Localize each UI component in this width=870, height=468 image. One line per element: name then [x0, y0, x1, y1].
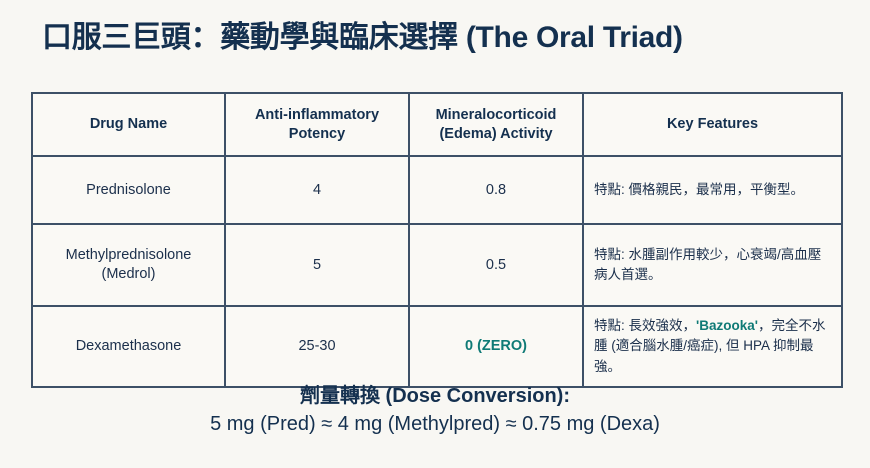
table-header: Drug Name Anti-inflammatory Potency Mine…: [32, 93, 842, 156]
oral-triad-table: Drug Name Anti-inflammatory Potency Mine…: [31, 92, 843, 388]
dose-conversion-title: 劑量轉換 (Dose Conversion):: [0, 383, 870, 411]
column-header-key-features: Key Features: [583, 93, 842, 156]
column-header-drug-name: Drug Name: [32, 93, 225, 156]
cell-key-features: 特點: 長效強效，'Bazooka'，完全不水腫 (適合腦水腫/癌症), 但 H…: [583, 306, 842, 387]
drug-name-line-2: (Medrol): [102, 266, 156, 282]
cell-potency: 25-30: [225, 306, 409, 387]
key-features-text-prefix: 特點: 長效強效，: [594, 318, 696, 333]
page-title: 口服三巨頭：藥動學與臨床選擇 (The Oral Triad): [42, 20, 842, 56]
cell-mineralocorticoid: 0.8: [409, 156, 583, 224]
table-row: Prednisolone 4 0.8 特點: 價格親民，最常用，平衡型。: [32, 156, 842, 224]
cell-potency: 4: [225, 156, 409, 224]
key-features-text: 特點: 價格親民，最常用，平衡型。: [594, 182, 804, 197]
column-header-anti-inflammatory-potency: Anti-inflammatory Potency: [225, 93, 409, 156]
table-body: Prednisolone 4 0.8 特點: 價格親民，最常用，平衡型。 Met…: [32, 156, 842, 387]
drug-name-line-1: Methylprednisolone: [66, 247, 192, 263]
cell-key-features: 特點: 價格親民，最常用，平衡型。: [583, 156, 842, 224]
cell-potency: 5: [225, 224, 409, 306]
table-row: Methylprednisolone (Medrol) 5 0.5 特點: 水腫…: [32, 224, 842, 306]
cell-key-features: 特點: 水腫副作用較少，心衰竭/高血壓病人首選。: [583, 224, 842, 306]
table-row: Dexamethasone 25-30 0 (ZERO) 特點: 長效強效，'B…: [32, 306, 842, 387]
zero-activity-badge: 0 (ZERO): [465, 338, 527, 354]
cell-mineralocorticoid: 0 (ZERO): [409, 306, 583, 387]
column-header-mineralocorticoid-activity: Mineralocorticoid (Edema) Activity: [409, 93, 583, 156]
key-features-accent-term: 'Bazooka': [696, 318, 758, 333]
cell-mineralocorticoid: 0.5: [409, 224, 583, 306]
table-header-row: Drug Name Anti-inflammatory Potency Mine…: [32, 93, 842, 156]
dose-conversion-equation: 5 mg (Pred) ≈ 4 mg (Methylpred) ≈ 0.75 m…: [0, 411, 870, 439]
dose-conversion-note: 劑量轉換 (Dose Conversion): 5 mg (Pred) ≈ 4 …: [0, 383, 870, 438]
cell-drug-name: Dexamethasone: [32, 306, 225, 387]
cell-drug-name: Methylprednisolone (Medrol): [32, 224, 225, 306]
cell-drug-name: Prednisolone: [32, 156, 225, 224]
key-features-text: 特點: 水腫副作用較少，心衰竭/高血壓病人首選。: [594, 247, 821, 282]
